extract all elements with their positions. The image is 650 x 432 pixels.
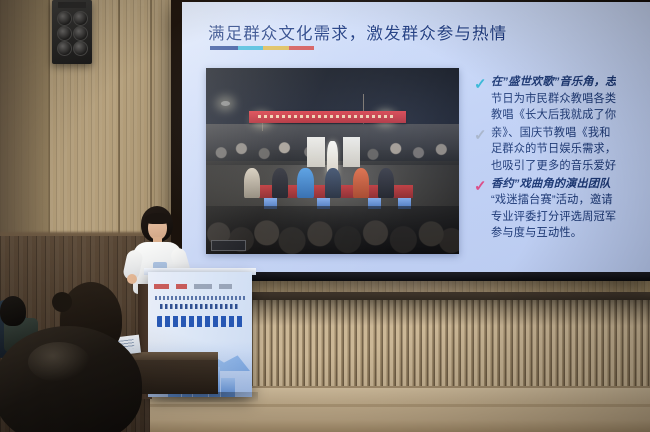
bullet-line: 参与度与互动性。: [491, 225, 616, 242]
projection-screen: 满足群众文化需求，激发群众参与热情: [182, 2, 650, 275]
floor-seam: [150, 404, 650, 407]
bullet-line: 在”盛世欢歌”音乐角，志: [491, 74, 616, 91]
sponsor-logo: [154, 284, 169, 289]
photo-corner-label: [211, 240, 246, 251]
wall-speaker-icon: [52, 0, 92, 64]
podium-logo-row: [154, 282, 246, 290]
speaker-cone: [73, 11, 88, 26]
bullet-line: 足群众的节日娱乐需求，: [491, 141, 616, 158]
audience-head-highlight: [28, 342, 90, 382]
bullet-item: ✓ 香约”戏曲角的演出团队 “戏迷擂台赛”活动，邀请 专业评委打分评选周冠军 参…: [474, 176, 650, 242]
check-icon: ✓: [474, 77, 491, 92]
photo-judge: [325, 168, 341, 198]
bullet-line: 香约”戏曲角的演出团队: [491, 176, 616, 193]
rule-segment-red: [289, 46, 314, 50]
podium-fineprint: [155, 296, 245, 300]
slide-title-underline: [210, 46, 314, 50]
check-icon: ✓: [474, 128, 491, 143]
slide-photo: [206, 68, 459, 254]
bullet-item: ✓ 在”盛世欢歌”音乐角，志 节日为市民群众教唱各类 教唱《长大后我就成了你: [474, 74, 650, 124]
rule-segment-gold: [263, 46, 288, 50]
audience-hair-bun: [52, 292, 72, 312]
bullet-line: 专业评委打分评选周冠军: [491, 209, 616, 226]
podium-main-title: [157, 316, 243, 327]
photo-judge: [244, 168, 260, 198]
speaker-cone: [73, 26, 88, 41]
bullet-line: 教唱《长大后我就成了你: [491, 107, 616, 124]
sponsor-logo: [219, 284, 232, 289]
slat-wall-shadow: [206, 300, 650, 326]
photo-judge: [353, 168, 369, 198]
photo-banner-scroll: [343, 137, 361, 167]
photo-judge: [297, 168, 313, 198]
presenter-hand-left: [127, 274, 137, 284]
audience-head: [0, 296, 26, 326]
bullet-line: 亲》、国庆节教唱《我和: [491, 125, 616, 142]
speaker-cone: [73, 41, 88, 56]
presenter-bangs: [145, 213, 170, 224]
photo-judge: [272, 168, 288, 198]
speaker-cone: [57, 26, 72, 41]
bullet-item: ✓ 亲》、国庆节教唱《我和 足群众的节日娱乐需求， 也吸引了更多的音乐爱好: [474, 125, 650, 175]
presentation-room-photo: 满足群众文化需求，激发群众参与热情: [0, 0, 650, 432]
podium-subtitle: [160, 304, 240, 309]
bullet-text: 香约”戏曲角的演出团队 “戏迷擂台赛”活动，邀请 专业评委打分评选周冠军 参与度…: [491, 176, 616, 242]
bullet-line: “戏迷擂台赛”活动，邀请: [491, 192, 616, 209]
slide-title: 满足群众文化需求，激发群众参与热情: [208, 20, 507, 44]
bullet-text: 亲》、国庆节教唱《我和 足群众的节日娱乐需求， 也吸引了更多的音乐爱好: [491, 125, 616, 175]
speaker-cone: [57, 11, 72, 26]
rule-segment-cyan: [238, 46, 263, 50]
bullet-text: 在”盛世欢歌”音乐角，志 节日为市民群众教唱各类 教唱《长大后我就成了你: [491, 74, 616, 124]
photo-judge: [378, 168, 394, 198]
bullet-line: 也吸引了更多的音乐爱好: [491, 158, 616, 175]
rule-segment-blue: [210, 46, 238, 50]
slide-bullet-list: ✓ 在”盛世欢歌”音乐角，志 节日为市民群众教唱各类 教唱《长大后我就成了你 ✓…: [474, 74, 650, 243]
speaker-cone: [57, 41, 72, 56]
sponsor-logo: [194, 284, 212, 289]
speaker-top-bar: [58, 2, 86, 8]
check-icon: ✓: [474, 179, 491, 194]
bullet-line: 节日为市民群众教唱各类: [491, 91, 616, 108]
photo-red-banner: [249, 111, 406, 123]
photo-banner-scroll: [307, 137, 325, 167]
stage-step: [150, 420, 650, 432]
sponsor-logo: [176, 284, 187, 289]
